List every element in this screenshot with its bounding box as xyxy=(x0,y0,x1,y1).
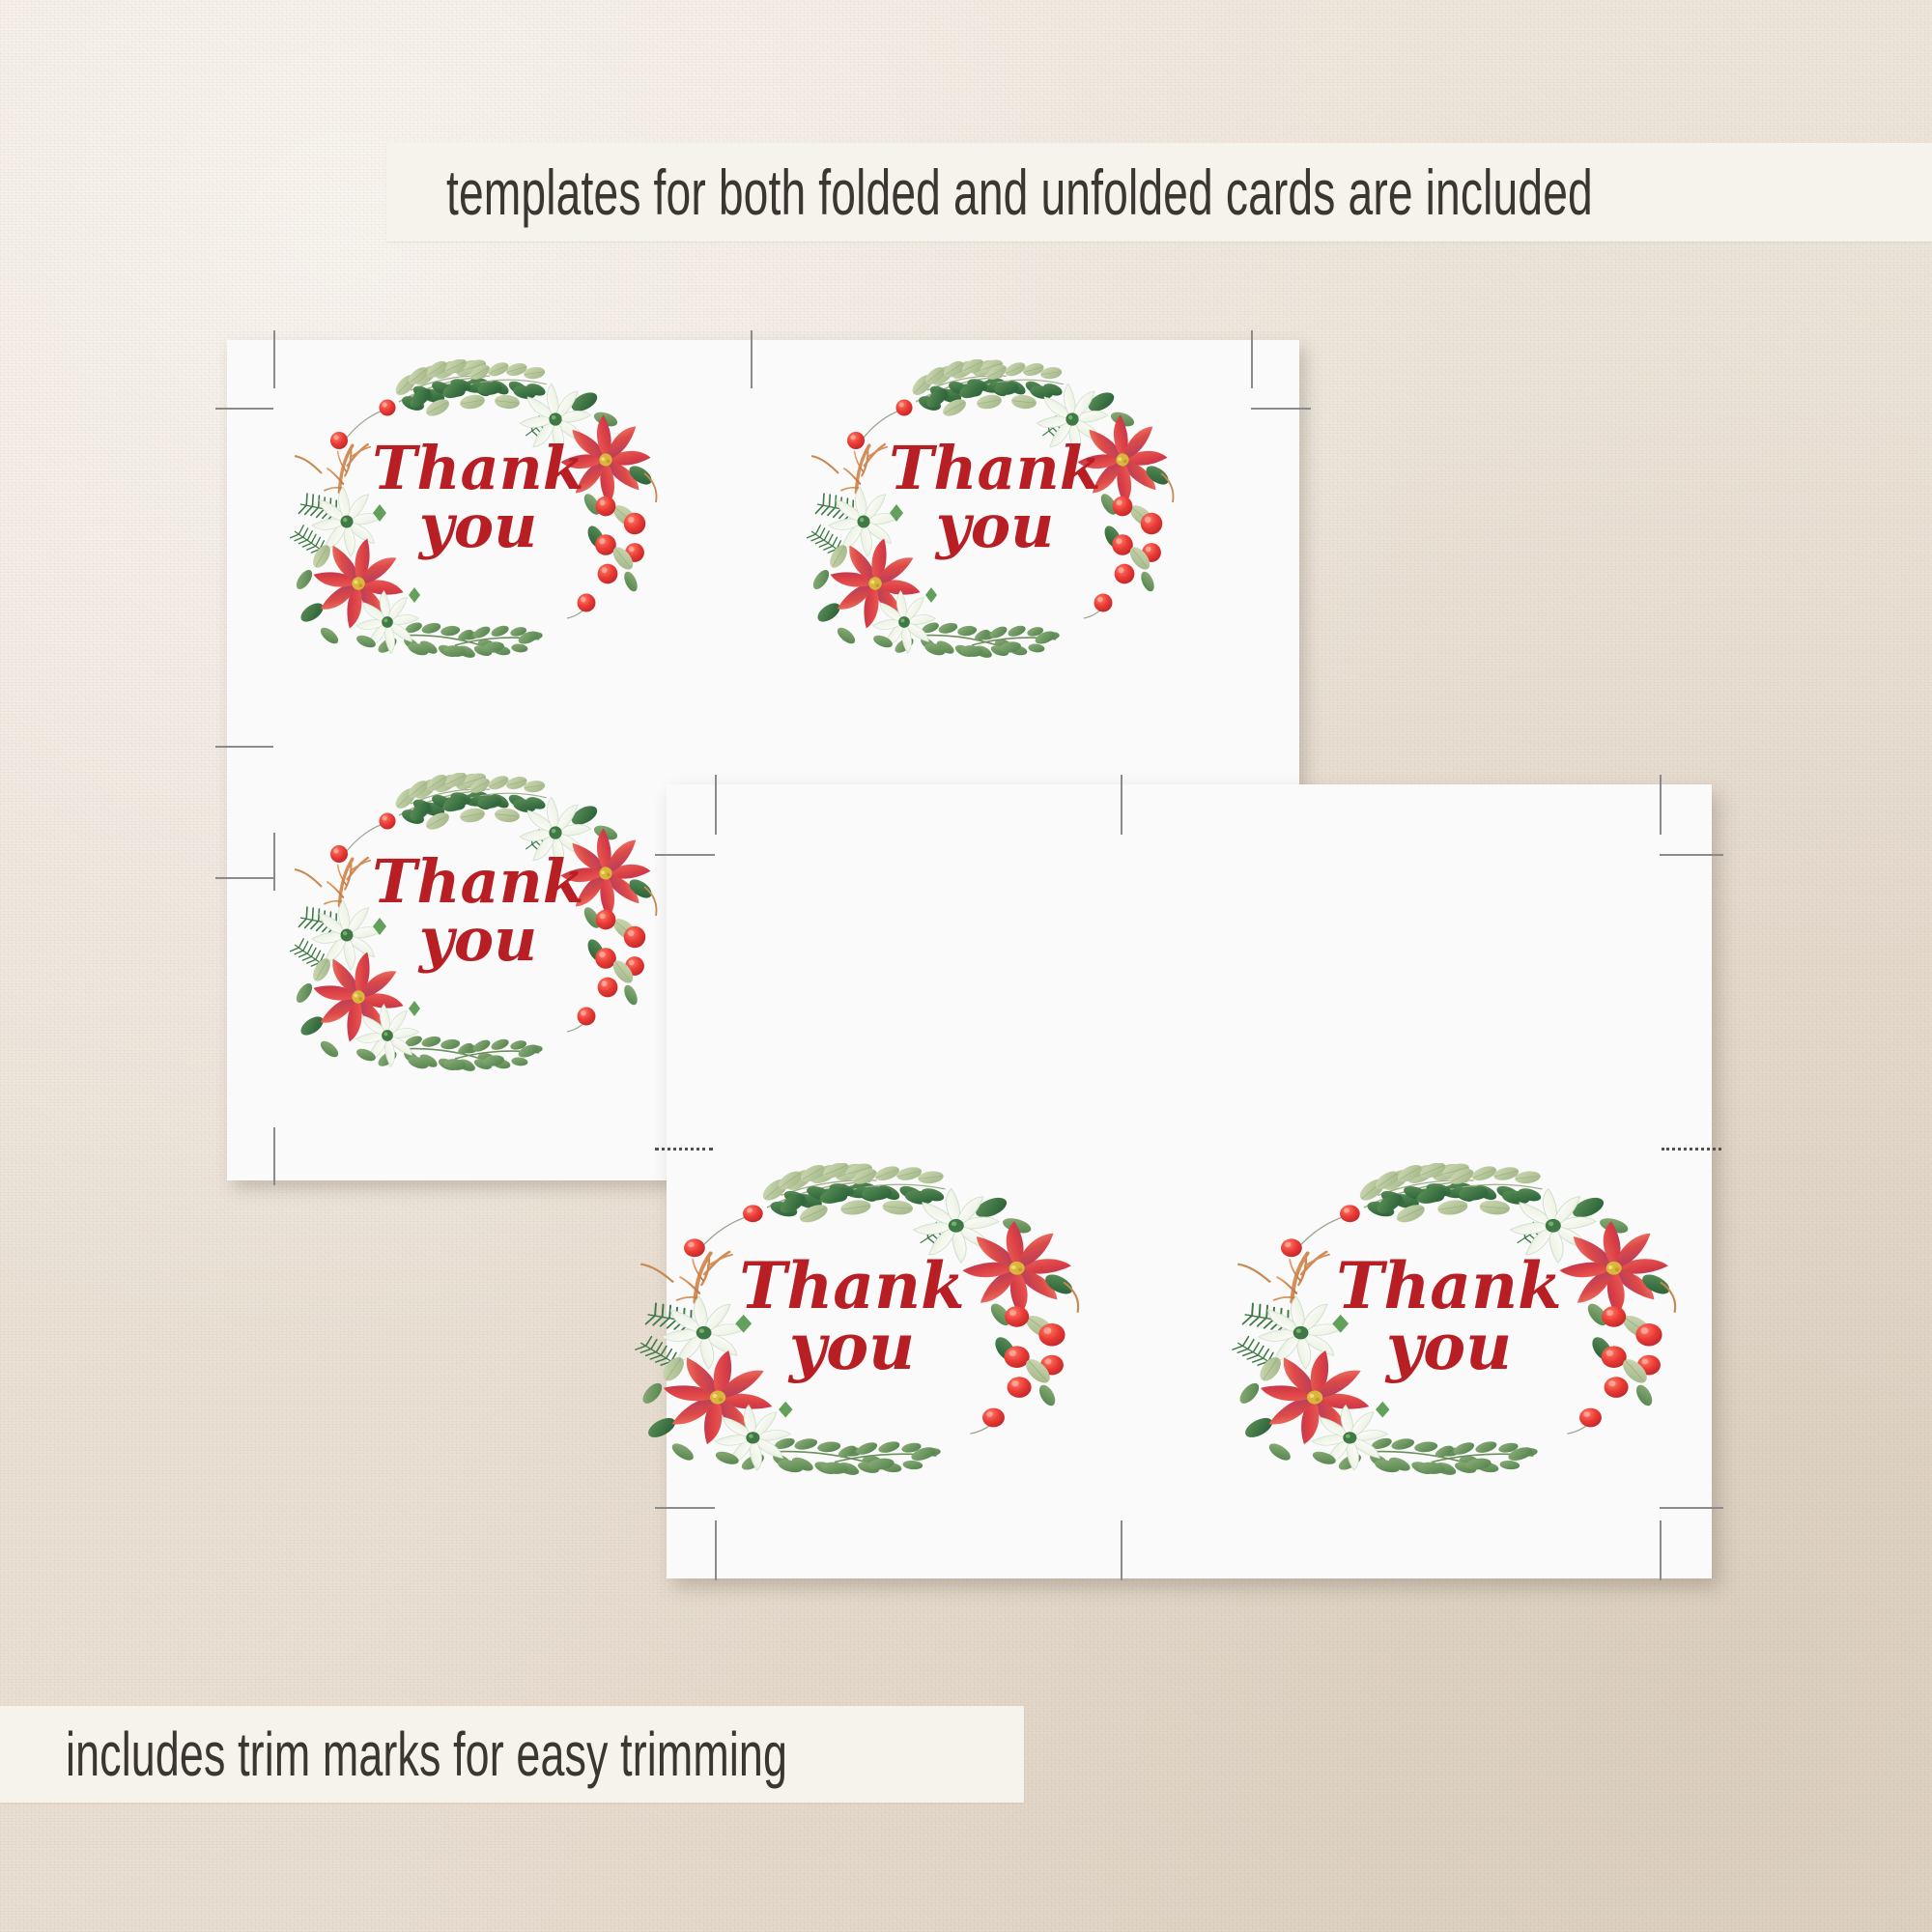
trim-mark-horizontal xyxy=(215,877,273,879)
top-banner: templates for both folded and unfolded c… xyxy=(386,143,1932,241)
trim-mark-horizontal xyxy=(1660,1507,1723,1509)
bottom-banner: includes trim marks for easy trimming xyxy=(0,1706,1024,1803)
bottom-banner-text: includes trim marks for easy trimming xyxy=(66,1719,787,1790)
trim-mark-vertical xyxy=(1121,775,1122,835)
front-sheet[interactable]: Thank you Thank you xyxy=(667,784,1712,1578)
trim-mark-vertical xyxy=(1660,775,1662,835)
trim-mark-vertical xyxy=(1251,330,1253,388)
wreath-artwork xyxy=(266,773,681,1092)
fold-mark-left xyxy=(655,1148,713,1151)
trim-mark-horizontal xyxy=(215,408,273,410)
wreath-artwork xyxy=(1203,1163,1705,1496)
trim-mark-horizontal xyxy=(655,1507,715,1509)
trim-mark-vertical xyxy=(751,330,753,388)
top-banner-text: templates for both folded and unfolded c… xyxy=(446,156,1593,229)
wreath-artwork xyxy=(606,1163,1108,1496)
trim-mark-horizontal xyxy=(655,854,715,856)
trim-mark-vertical xyxy=(273,1127,275,1185)
wreath-artwork xyxy=(266,359,681,678)
trim-mark-horizontal xyxy=(1251,408,1311,410)
trim-mark-vertical xyxy=(1660,1520,1662,1580)
trim-mark-horizontal xyxy=(1660,854,1723,856)
fold-mark-right xyxy=(1662,1148,1721,1151)
trim-mark-vertical xyxy=(715,1520,717,1580)
trim-mark-horizontal xyxy=(215,746,273,748)
trim-mark-vertical xyxy=(715,775,717,835)
trim-mark-vertical xyxy=(1121,1520,1122,1580)
wreath-artwork xyxy=(782,359,1198,678)
